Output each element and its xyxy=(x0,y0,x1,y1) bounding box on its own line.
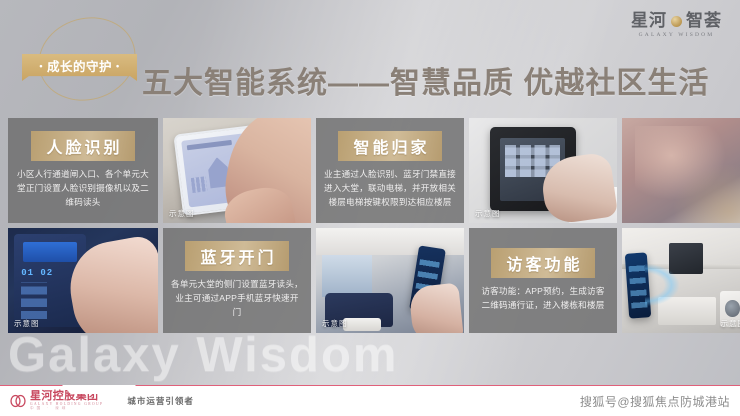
feature-card-title: 访客功能 xyxy=(491,248,594,278)
brand-logo-cn-left: 星河 xyxy=(631,11,667,30)
photo-smart-home-appliances: 示意图 xyxy=(622,228,740,333)
tablet-screen-header-bar xyxy=(186,140,231,151)
kiosk-display xyxy=(23,242,78,262)
kiosk-floor-number: 01 02 xyxy=(21,268,53,278)
feature-card-title: 蓝牙开门 xyxy=(185,241,288,271)
feature-grid: 人脸识别 小区人行通道闸入口、各个单元大堂正门设置人脸识别摄像机以及二维码读头 … xyxy=(8,118,732,333)
footer-slogan: 城市运营引领者 xyxy=(127,395,194,407)
feature-card-desc: 访客功能：APP预约，生成访客二维码通行证，进入楼栋和楼层 xyxy=(477,285,609,313)
feature-card-title: 人脸识别 xyxy=(31,131,134,161)
footer-bar: 星河控股集团 GALAXY HOLDING GROUP 中国 · 深圳 城市运营… xyxy=(0,385,740,416)
living-window xyxy=(322,255,372,297)
slide-root: •成长的守护• 五大智能系统——智慧品质 优越社区生活 星河智荟 GALAXY … xyxy=(0,0,740,416)
badge-bullet-left: • xyxy=(39,61,43,71)
kiosk-keypad xyxy=(21,282,47,319)
footer-logo-text: 星河控股集团 GALAXY HOLDING GROUP 中国 · 深圳 xyxy=(30,391,103,410)
photo-living-room: 示意图 xyxy=(316,228,464,333)
photo-access-terminal: 01 02 示意图 xyxy=(8,228,158,333)
feature-card-visitor-function: 访客功能 访客功能：APP预约，生成访客二维码通行证，进入楼栋和楼层 xyxy=(469,228,617,333)
feature-card-desc: 小区人行通道闸入口、各个单元大堂正门设置人脸识别摄像机以及二维码读头 xyxy=(16,168,150,210)
brand-logo-en: GALAXY WISDOM xyxy=(631,33,722,39)
feature-card-desc: 业主通过人脸识别、蓝牙门禁直接进入大堂，联动电梯，并开放相关楼层电梯按键权限到达… xyxy=(324,168,456,210)
footer-logo: 星河控股集团 GALAXY HOLDING GROUP 中国 · 深圳 xyxy=(10,391,103,410)
feature-card-desc: 各单元大堂的侧门设置蓝牙读头，业主可通过APP手机蓝牙快速开门 xyxy=(171,278,303,320)
photo-note: 示意图 xyxy=(475,208,501,219)
portrait-warm-glow xyxy=(674,165,740,223)
feature-card-title: 智能归家 xyxy=(338,131,441,161)
source-watermark: 搜狐号@搜狐焦点防城港站 xyxy=(580,393,730,410)
feature-card-smart-home-return: 智能归家 业主通过人脸识别、蓝牙门禁直接进入大堂，联动电梯，并开放相关楼层电梯按… xyxy=(316,118,464,223)
badge-bullet-right: • xyxy=(116,61,120,71)
interlocking-rings-icon xyxy=(10,394,27,408)
brand-logo: 星河智荟 GALAXY WISDOM xyxy=(631,12,722,39)
photo-portrait-backdrop xyxy=(622,118,740,223)
feature-card-face-recognition: 人脸识别 小区人行通道闸入口、各个单元大堂正门设置人脸识别摄像机以及二维码读头 xyxy=(8,118,158,223)
photo-note: 示意图 xyxy=(721,318,740,329)
galaxy-wisdom-watermark: Galaxy Wisdom xyxy=(8,331,398,380)
photo-elevator-panel: 示意图 xyxy=(469,118,617,223)
page-title: 五大智能系统——智慧品质 优越社区生活 xyxy=(142,58,709,102)
photo-tablet-face-app: 示意图 xyxy=(163,118,311,223)
brand-emblem-icon xyxy=(671,16,682,27)
photo-note: 示意图 xyxy=(169,208,195,219)
tablet-side-bars xyxy=(190,176,207,193)
footer-logo-en2: 中国 · 深圳 xyxy=(30,407,103,411)
feature-card-bluetooth-door: 蓝牙开门 各单元大堂的侧门设置蓝牙读头，业主可通过APP手机蓝牙快速开门 xyxy=(163,228,311,333)
brand-logo-cn-right: 智荟 xyxy=(686,11,722,30)
signal-wave-effect xyxy=(645,264,679,306)
badge-label: 成长的守护 xyxy=(47,56,112,75)
brand-logo-cn: 星河智荟 xyxy=(631,12,722,29)
